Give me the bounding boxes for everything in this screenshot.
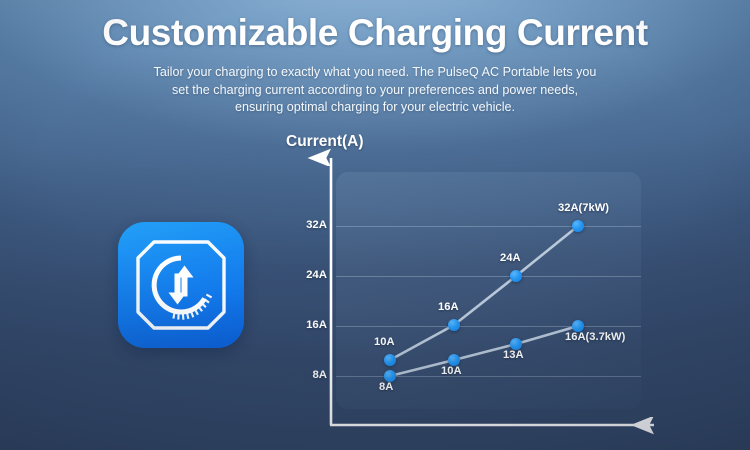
chart-axes-and-lines	[0, 0, 750, 450]
data-point-7kw-3	[510, 270, 522, 282]
series-line-37kw	[390, 326, 578, 376]
data-label-37kw-4: 16A(3.7kW)	[565, 331, 625, 343]
data-point-7kw-2	[448, 319, 460, 331]
series-line-7kw	[390, 226, 578, 360]
data-point-7kw-1	[384, 354, 396, 366]
promo-banner: Customizable Charging Current Tailor you…	[0, 0, 750, 450]
data-label-37kw-3: 13A	[503, 349, 524, 361]
data-label-37kw-2: 10A	[441, 365, 462, 377]
data-label-37kw-1: 8A	[379, 381, 393, 393]
data-label-7kw-3: 24A	[500, 252, 521, 264]
current-chart: Current(A) 32A 24A 16A 8A	[0, 0, 750, 450]
data-label-7kw-4: 32A(7kW)	[558, 202, 609, 214]
data-label-7kw-2: 16A	[438, 301, 459, 313]
data-point-7kw-4	[572, 220, 584, 232]
data-label-7kw-1: 10A	[374, 336, 395, 348]
